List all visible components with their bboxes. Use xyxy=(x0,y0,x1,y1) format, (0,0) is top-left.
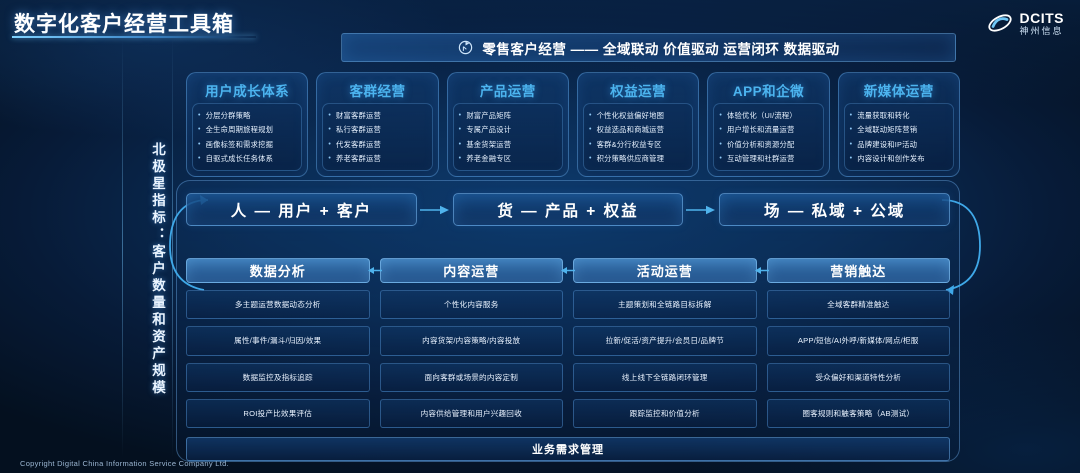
card-bullet: •分层分群策略 xyxy=(198,111,297,120)
bullet-dot: • xyxy=(719,125,722,134)
card-bullet-label: 流量获取和转化 xyxy=(857,111,909,120)
column-cell[interactable]: APP/短信/AI外呼/新媒体/网点/柜服 xyxy=(767,326,951,355)
column-cell[interactable]: 属性/事件/漏斗/归因/效果 xyxy=(186,326,370,355)
column-header[interactable]: 内容运营 xyxy=(380,258,564,283)
card-bullet-label: 用户增长和流量运营 xyxy=(727,125,794,134)
column-cell[interactable]: 多主题运营数据动态分析 xyxy=(186,290,370,319)
bottom-bar[interactable]: 业务需求管理 xyxy=(186,437,950,461)
bullet-dot: • xyxy=(198,140,201,149)
bullet-dot: • xyxy=(719,111,722,120)
bullet-dot: • xyxy=(850,140,853,149)
card-bullet-label: 互动管理和社群运营 xyxy=(727,154,794,163)
card-bullet: •内容设计和创作发布 xyxy=(850,154,949,163)
divider-right xyxy=(172,38,173,458)
banner-text: 零售客户经营 —— 全域联动 价值驱动 运营闭环 数据驱动 xyxy=(482,38,839,58)
card-bullet: •财富产品矩阵 xyxy=(459,111,558,120)
card-bullet: •全域联动矩阵营销 xyxy=(850,125,949,134)
card-body: •体验优化（UI/流程） •用户增长和流量运营 •价值分析和资源分配 •互动管理… xyxy=(713,103,823,171)
card-bullet: •全生命周期旅程规划 xyxy=(198,125,297,134)
column-cell[interactable]: 全域客群精准触达 xyxy=(767,290,951,319)
column-cell[interactable]: ROI投产比效果评估 xyxy=(186,399,370,428)
card-body: •个性化权益偏好地图 •权益选品和商城运营 •客群&分行权益专区 •积分策略供应… xyxy=(583,103,693,171)
brand-logo: DCITS 神州信息 xyxy=(987,10,1065,36)
card-bullet-label: 品牌建设和IP活动 xyxy=(857,140,917,149)
card-bullet-label: 画像标签和需求挖掘 xyxy=(206,140,273,149)
bullet-dot: • xyxy=(589,140,592,149)
flow-box-people[interactable]: 人 — 用户 + 客户 xyxy=(186,193,417,226)
card-bullet-label: 财富产品矩阵 xyxy=(466,111,511,120)
column-header[interactable]: 营销触达 xyxy=(767,258,951,283)
bullet-dot: • xyxy=(719,154,722,163)
cycle-arrow-icon xyxy=(457,39,474,56)
column-cell[interactable]: 主题策划和全链路目标拆解 xyxy=(573,290,757,319)
logo-text-en: DCITS xyxy=(1020,11,1065,25)
bullet-dot: • xyxy=(589,154,592,163)
capability-card[interactable]: 产品运营 •财富产品矩阵 •专属产品设计 •基金货架运营 •养老金融专区 xyxy=(447,72,569,177)
card-title: 产品运营 xyxy=(453,80,563,100)
bullet-dot: • xyxy=(328,125,331,134)
flow-box-place[interactable]: 场 — 私域 + 公域 xyxy=(719,193,950,226)
column-header[interactable]: 活动运营 xyxy=(573,258,757,283)
card-bullet-label: 养老客群运营 xyxy=(336,154,381,163)
card-bullet: •价值分析和资源分配 xyxy=(719,140,818,149)
card-bullet-label: 全域联动矩阵营销 xyxy=(857,125,917,134)
column-cell[interactable]: 个性化内容服务 xyxy=(380,290,564,319)
arrow-right-icon xyxy=(683,204,719,216)
card-bullet-label: 专属产品设计 xyxy=(466,125,511,134)
card-bullet: •积分策略供应商管理 xyxy=(589,154,688,163)
bullet-dot: • xyxy=(459,111,462,120)
card-bullet: •客群&分行权益专区 xyxy=(589,140,688,149)
card-title: 客群经营 xyxy=(322,80,432,100)
arrow-left-icon xyxy=(368,264,382,277)
card-bullet: •流量获取和转化 xyxy=(850,111,949,120)
capability-card[interactable]: APP和企微 •体验优化（UI/流程） •用户增长和流量运营 •价值分析和资源分… xyxy=(707,72,829,177)
card-bullet: •互动管理和社群运营 xyxy=(719,154,818,163)
column-cell[interactable]: 受众偏好和渠道特性分析 xyxy=(767,363,951,392)
column-cell[interactable]: 内容供给管理和用户兴趣回收 xyxy=(380,399,564,428)
card-bullet: •财富客群运营 xyxy=(328,111,427,120)
bullet-dot: • xyxy=(850,111,853,120)
column-cell[interactable]: 线上线下全链路闭环管理 xyxy=(573,363,757,392)
column-cell[interactable]: 跟踪监控和价值分析 xyxy=(573,399,757,428)
bullet-dot: • xyxy=(198,154,201,163)
card-body: •财富产品矩阵 •专属产品设计 •基金货架运营 •养老金融专区 xyxy=(453,103,563,171)
slide-canvas: 数字化客户经营工具箱 DCITS 神州信息 北极星指标：客户数量和资产规模 零售… xyxy=(0,0,1080,473)
card-bullet: •专属产品设计 xyxy=(459,125,558,134)
bullet-dot: • xyxy=(328,111,331,120)
card-bullet-label: 积分策略供应商管理 xyxy=(597,154,664,163)
card-bullet-label: 养老金融专区 xyxy=(466,154,511,163)
card-bullet-label: 分层分群策略 xyxy=(206,111,251,120)
bullet-dot: • xyxy=(589,125,592,134)
card-bullet-label: 内容设计和创作发布 xyxy=(857,154,924,163)
card-bullet-label: 体验优化（UI/流程） xyxy=(727,111,797,120)
card-bullet-label: 全生命周期旅程规划 xyxy=(206,125,273,134)
logo-text-cn: 神州信息 xyxy=(1020,27,1065,36)
card-bullet: •画像标签和需求挖掘 xyxy=(198,140,297,149)
page-title: 数字化客户经营工具箱 xyxy=(14,8,234,38)
card-title: 权益运营 xyxy=(583,80,693,100)
copyright-text: Copyright Digital China Information Serv… xyxy=(20,459,229,468)
card-body: •分层分群策略 •全生命周期旅程规划 •画像标签和需求挖掘 •自驱式成长任务体系 xyxy=(192,103,302,171)
card-bullet-label: 私行客群运营 xyxy=(336,125,381,134)
card-body: •财富客群运营 •私行客群运营 •代发客群运营 •养老客群运营 xyxy=(322,103,432,171)
card-bullet-label: 个性化权益偏好地图 xyxy=(597,111,664,120)
bullet-dot: • xyxy=(459,140,462,149)
card-bullet: •体验优化（UI/流程） xyxy=(719,111,818,120)
column-cell[interactable]: 内容货架/内容策略/内容投放 xyxy=(380,326,564,355)
card-bullet-label: 代发客群运营 xyxy=(336,140,381,149)
card-bullet-label: 财富客群运营 xyxy=(336,111,381,120)
bullet-dot: • xyxy=(328,154,331,163)
column-cell[interactable]: 拉新/促活/资产提升/会员日/品牌节 xyxy=(573,326,757,355)
card-bullet: •基金货架运营 xyxy=(459,140,558,149)
bullet-dot: • xyxy=(459,125,462,134)
capability-card[interactable]: 用户成长体系 •分层分群策略 •全生命周期旅程规划 •画像标签和需求挖掘 •自驱… xyxy=(186,72,308,177)
capability-card[interactable]: 客群经营 •财富客群运营 •私行客群运营 •代发客群运营 •养老客群运营 xyxy=(316,72,438,177)
divider-left xyxy=(122,38,123,458)
column-header[interactable]: 数据分析 xyxy=(186,258,370,283)
bullet-dot: • xyxy=(198,111,201,120)
card-bullet: •私行客群运营 xyxy=(328,125,427,134)
bullet-dot: • xyxy=(459,154,462,163)
capability-card-row: 用户成长体系 •分层分群策略 •全生命周期旅程规划 •画像标签和需求挖掘 •自驱… xyxy=(186,72,960,177)
arrow-left-icon xyxy=(755,264,769,277)
card-bullet: •品牌建设和IP活动 xyxy=(850,140,949,149)
column-cell[interactable]: 圈客规则和触客策略（AB测试） xyxy=(767,399,951,428)
title-underline xyxy=(12,36,256,38)
card-bullet-label: 价值分析和资源分配 xyxy=(727,140,794,149)
card-bullet-label: 自驱式成长任务体系 xyxy=(206,154,273,163)
bullet-dot: • xyxy=(328,140,331,149)
column-cell[interactable]: 数据监控及指标追踪 xyxy=(186,363,370,392)
arrow-left-icon xyxy=(561,264,575,277)
operations-column-campaign: 活动运营 主题策划和全链路目标拆解 拉新/促活/资产提升/会员日/品牌节 线上线… xyxy=(573,258,757,428)
operations-column-marketing: 营销触达 全域客群精准触达 APP/短信/AI外呼/新媒体/网点/柜服 受众偏好… xyxy=(767,258,951,428)
card-bullet: •用户增长和流量运营 xyxy=(719,125,818,134)
card-title: APP和企微 xyxy=(713,80,823,100)
card-bullet-label: 权益选品和商城运营 xyxy=(597,125,664,134)
bullet-dot: • xyxy=(850,154,853,163)
bullet-dot: • xyxy=(850,125,853,134)
card-title: 新媒体运营 xyxy=(844,80,954,100)
card-title: 用户成长体系 xyxy=(192,80,302,100)
arrow-right-icon xyxy=(417,204,453,216)
card-bullet: •养老金融专区 xyxy=(459,154,558,163)
north-star-label: 北极星指标：客户数量和资产规模 xyxy=(130,104,164,434)
dcits-swirl-icon xyxy=(987,10,1013,36)
bullet-dot: • xyxy=(198,125,201,134)
operations-column-row: 数据分析 多主题运营数据动态分析 属性/事件/漏斗/归因/效果 数据监控及指标追… xyxy=(186,258,950,428)
operations-column-data-analysis: 数据分析 多主题运营数据动态分析 属性/事件/漏斗/归因/效果 数据监控及指标追… xyxy=(186,258,370,428)
card-bullet-label: 客群&分行权益专区 xyxy=(597,140,662,149)
capability-card[interactable]: 权益运营 •个性化权益偏好地图 •权益选品和商城运营 •客群&分行权益专区 •积… xyxy=(577,72,699,177)
card-bullet: •自驱式成长任务体系 xyxy=(198,154,297,163)
card-bullet: •代发客群运营 xyxy=(328,140,427,149)
capability-card[interactable]: 新媒体运营 •流量获取和转化 •全域联动矩阵营销 •品牌建设和IP活动 •内容设… xyxy=(838,72,960,177)
bullet-dot: • xyxy=(589,111,592,120)
banner-bar: 零售客户经营 —— 全域联动 价值驱动 运营闭环 数据驱动 xyxy=(341,33,956,62)
card-bullet: •养老客群运营 xyxy=(328,154,427,163)
column-cell[interactable]: 面向客群或场景的内容定制 xyxy=(380,363,564,392)
card-body: •流量获取和转化 •全域联动矩阵营销 •品牌建设和IP活动 •内容设计和创作发布 xyxy=(844,103,954,171)
flow-box-goods[interactable]: 货 — 产品 + 权益 xyxy=(453,193,684,226)
operations-column-content: 内容运营 个性化内容服务 内容货架/内容策略/内容投放 面向客群或场景的内容定制… xyxy=(380,258,564,428)
card-bullet-label: 基金货架运营 xyxy=(466,140,511,149)
card-bullet: •权益选品和商城运营 xyxy=(589,125,688,134)
people-goods-place-row: 人 — 用户 + 客户 货 — 产品 + 权益 场 — 私域 + 公域 xyxy=(186,193,950,226)
card-bullet: •个性化权益偏好地图 xyxy=(589,111,688,120)
bullet-dot: • xyxy=(719,140,722,149)
